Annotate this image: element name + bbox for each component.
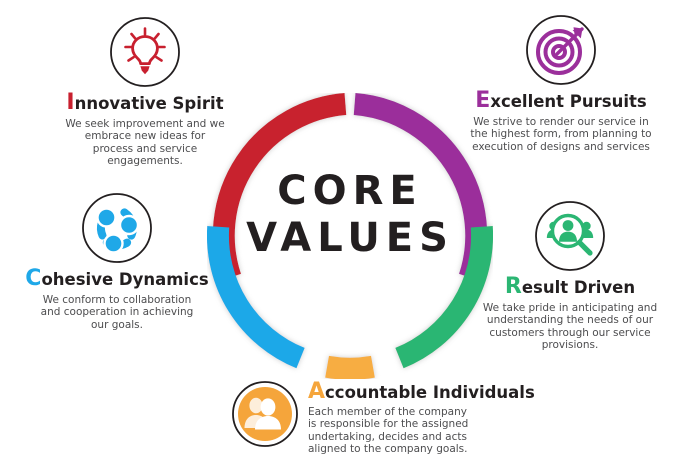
value-title: Result Driven (468, 277, 672, 298)
arc-accountable (327, 367, 373, 369)
value-initial: R (505, 274, 522, 299)
people-magnifier-icon (534, 200, 606, 272)
value-initial: C (25, 266, 41, 291)
value-title: Excellent Pursuits (462, 91, 660, 112)
value-innovative-spirit[interactable]: Innovative Spirit We seek improvement an… (50, 16, 240, 168)
core-values-infographic: CORE VALUES Innovative Spirit We (0, 0, 690, 468)
lightbulb-icon (109, 16, 181, 88)
two-people-icon (231, 380, 299, 448)
three-nodes-icon (81, 192, 153, 264)
value-excellent-pursuits[interactable]: Excellent Pursuits We strive to render o… (462, 14, 660, 153)
value-description: We seek improvement and we embrace new i… (50, 118, 240, 168)
value-cohesive-dynamics[interactable]: Cohesive Dynamics We conform to collabor… (18, 192, 216, 331)
value-description: Each member of the company is responsibl… (308, 406, 535, 456)
core-values-ring (207, 93, 493, 379)
target-arrow-icon (525, 14, 597, 86)
value-title-rest: esult Driven (522, 278, 635, 297)
value-result-driven[interactable]: Result Driven We take pride in anticipat… (468, 200, 672, 352)
value-title-rest: xcellent Pursuits (490, 92, 646, 111)
arc-excellent (355, 104, 477, 277)
value-initial: A (308, 379, 325, 404)
value-title: Accountable Individuals (308, 382, 535, 403)
value-accountable-individuals[interactable]: Accountable Individuals Each member of t… (231, 378, 541, 456)
value-title-rest: nnovative Spirit (75, 94, 224, 113)
value-initial: I (66, 90, 74, 115)
value-initial: E (475, 88, 490, 113)
value-title-rest: ccountable Individuals (325, 383, 535, 402)
value-text-block: Accountable Individuals Each member of t… (308, 378, 535, 456)
arc-innovative (224, 104, 346, 277)
value-description: We conform to collaboration and cooperat… (18, 294, 216, 331)
value-title: Cohesive Dynamics (18, 269, 216, 290)
value-description: We take pride in anticipating and unders… (468, 302, 672, 352)
value-title: Innovative Spirit (50, 93, 240, 114)
value-title-rest: ohesive Dynamics (41, 270, 208, 289)
value-description: We strive to render our service in the h… (462, 116, 660, 153)
